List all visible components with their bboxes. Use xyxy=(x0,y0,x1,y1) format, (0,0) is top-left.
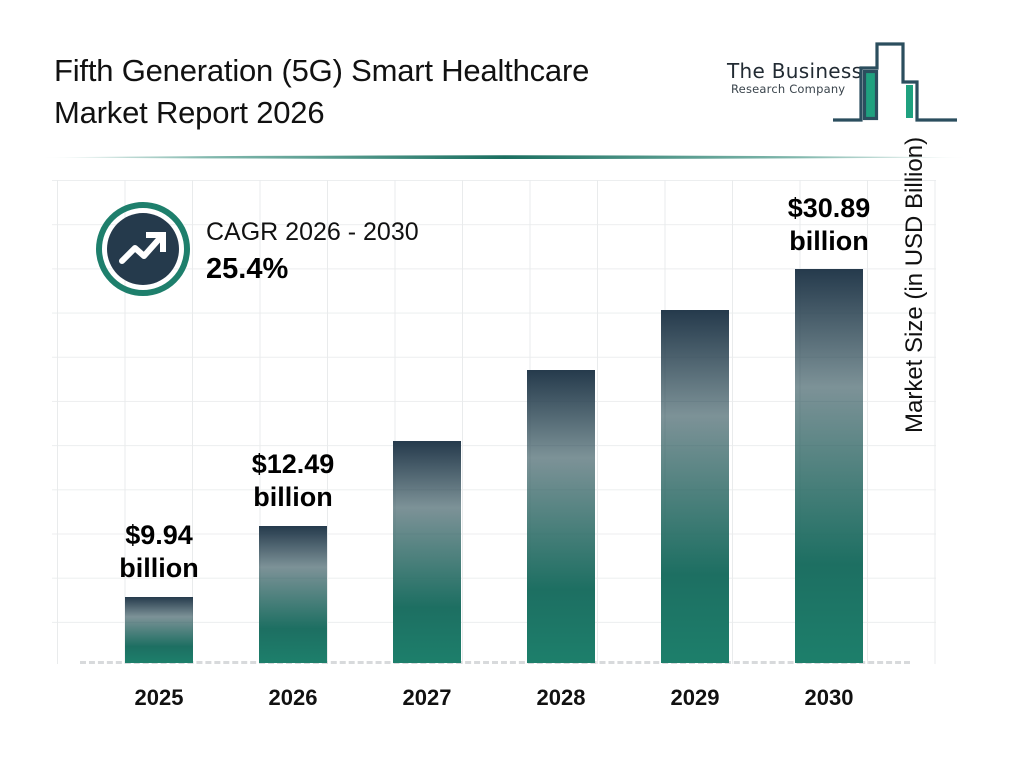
cagr-text-block: CAGR 2026 - 2030 25.4% xyxy=(206,214,419,288)
bar-chart-skyline-logo-mark xyxy=(831,38,961,130)
bar-2030[interactable] xyxy=(795,269,863,663)
bar-2027[interactable] xyxy=(393,441,461,663)
bar-label-2030: $30.89 billion xyxy=(754,192,904,258)
bar-2026[interactable] xyxy=(259,526,327,663)
page-title: Fifth Generation (5G) Smart Healthcare M… xyxy=(54,50,714,134)
report-header: Fifth Generation (5G) Smart Healthcare M… xyxy=(0,0,1024,160)
cagr-value-label: 25.4% xyxy=(206,250,419,288)
bar-label-2026: $12.49 billion xyxy=(218,448,368,514)
x-axis-tick-2030: 2030 xyxy=(754,685,904,711)
cagr-badge: CAGR 2026 - 2030 25.4% xyxy=(96,202,516,312)
company-logo: The Business Research Company xyxy=(727,38,967,130)
trending-up-arrow-icon xyxy=(96,202,190,296)
bar-2028[interactable] xyxy=(527,370,595,663)
x-axis-tick-2025: 2025 xyxy=(84,685,234,711)
bar-2025[interactable] xyxy=(125,597,193,663)
bar-2029[interactable] xyxy=(661,310,729,663)
x-axis-tick-2029: 2029 xyxy=(620,685,770,711)
y-axis-label: Market Size (in USD Billion) xyxy=(901,33,929,433)
x-axis-tick-2028: 2028 xyxy=(486,685,636,711)
bar-label-2025: $9.94 billion xyxy=(84,519,234,585)
chart-baseline xyxy=(80,661,910,664)
x-axis-tick-2027: 2027 xyxy=(352,685,502,711)
cagr-period-label: CAGR 2026 - 2030 xyxy=(206,214,419,250)
x-axis-tick-2026: 2026 xyxy=(218,685,368,711)
